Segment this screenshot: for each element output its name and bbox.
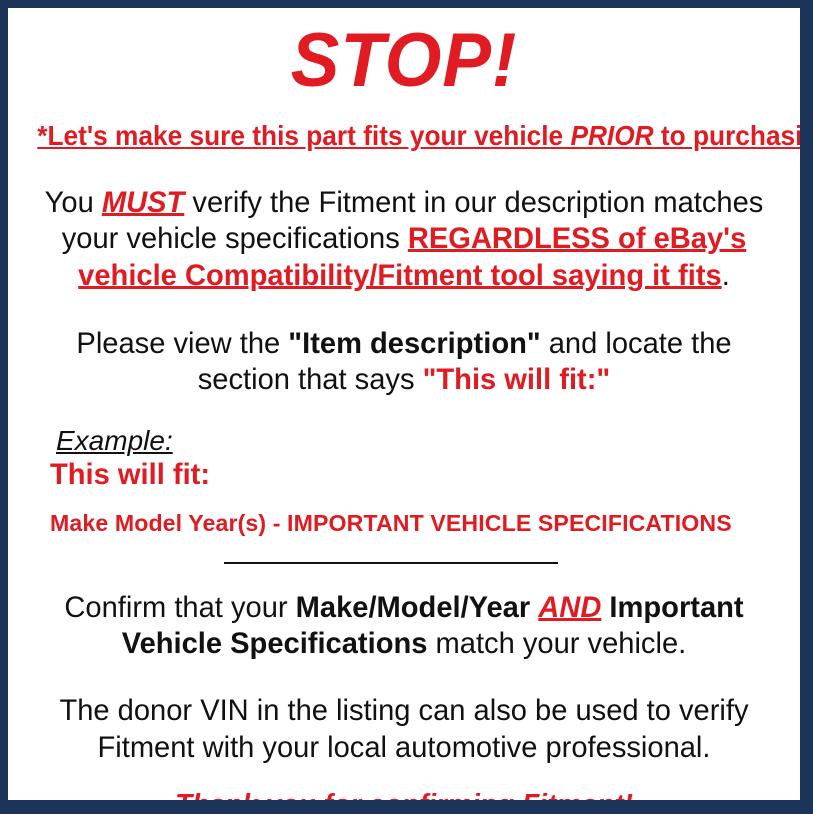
subheadline: *Let's make sure this part fits your veh…: [26, 98, 782, 152]
view-description-paragraph: Please view the "Item description" and l…: [20, 294, 788, 399]
notice-border-frame: STOP! *Let's make sure this part fits yo…: [0, 0, 813, 814]
notice-card: STOP! *Let's make sure this part fits yo…: [8, 8, 800, 800]
example-block: Example: This will fit: Make Model Year(…: [8, 399, 800, 537]
example-fit-line: This will fit:: [50, 456, 778, 491]
subheadline-text-after: to purchasing*: [654, 120, 800, 151]
must-paragraph-seg3: .: [722, 259, 730, 292]
this-will-fit-emphasis: "This will fit:": [423, 363, 611, 396]
view-paragraph-seg1: Please view the: [76, 327, 288, 360]
confirm-paragraph: Confirm that your Make/Model/Year AND Im…: [20, 564, 788, 663]
subheadline-emphasis-prior: PRIOR: [570, 120, 653, 151]
thankyou-line: Thank you for confirming Fitment!: [20, 766, 788, 800]
example-spec-line: Make Model Year(s) - IMPORTANT VEHICLE S…: [50, 491, 789, 537]
example-label: Example:: [50, 425, 173, 456]
must-paragraph-seg1: You: [45, 186, 102, 219]
stop-heading: STOP!: [24, 8, 784, 98]
make-model-year-emphasis: Make/Model/Year: [296, 591, 531, 624]
example-label-row: Example:: [50, 425, 800, 456]
item-description-emphasis: "Item description": [288, 327, 540, 360]
subheadline-text-before: *Let's make sure this part fits your veh…: [37, 120, 570, 151]
confirm-paragraph-seg4: match your vehicle.: [427, 627, 686, 660]
confirm-paragraph-seg1: Confirm that your: [64, 591, 295, 624]
must-emphasis: MUST: [102, 186, 184, 219]
must-verify-paragraph: You MUST verify the Fitment in our descr…: [20, 152, 788, 294]
and-emphasis: AND: [538, 591, 601, 624]
divider-wrap: [8, 537, 800, 564]
donor-vin-paragraph: The donor VIN in the listing can also be…: [20, 662, 788, 766]
confirm-paragraph-seg3: [601, 591, 609, 624]
